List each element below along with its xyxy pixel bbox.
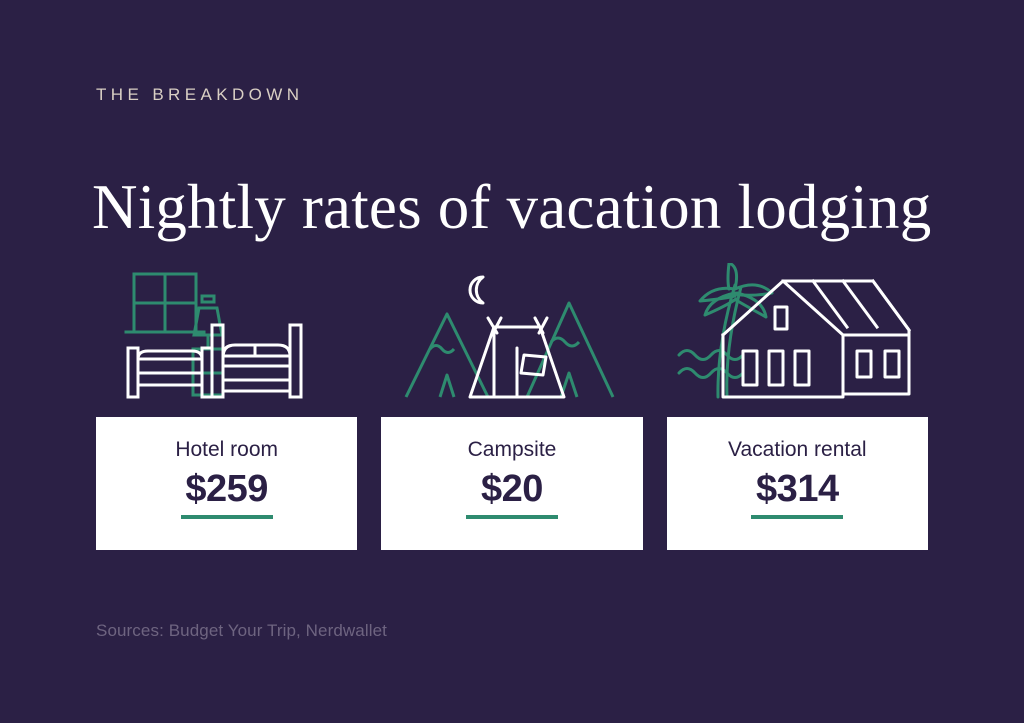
page-title: Nightly rates of vacation lodging: [92, 173, 1024, 241]
value-underline-accent: [466, 515, 558, 519]
infographic-canvas: THE BREAKDOWN Nightly rates of vacation …: [0, 0, 1024, 723]
icon-row: [96, 258, 928, 403]
icon-cell-campsite: [381, 258, 642, 403]
value-underline-accent: [181, 515, 273, 519]
campsite-tent-icon: [404, 263, 619, 403]
rate-card-value: $259: [185, 468, 268, 511]
sources-note: Sources: Budget Your Trip, Nerdwallet: [96, 621, 387, 641]
eyebrow-label: THE BREAKDOWN: [96, 85, 303, 105]
rate-card-hotel-room: Hotel room $259: [96, 417, 357, 550]
rate-card-label: Campsite: [468, 437, 557, 462]
rate-card-row: Hotel room $259 Campsite $20 Vacation re…: [96, 417, 928, 550]
vacation-rental-house-icon: [677, 263, 917, 403]
rate-card-campsite: Campsite $20: [381, 417, 642, 550]
rate-card-label: Vacation rental: [728, 437, 867, 462]
rate-card-value: $20: [481, 468, 543, 511]
icon-cell-vacation-rental: [667, 258, 928, 403]
icon-cell-hotel-room: [96, 258, 357, 403]
rate-card-value: $314: [756, 468, 839, 511]
hotel-bedroom-icon: [114, 263, 339, 403]
value-underline-accent: [751, 515, 843, 519]
rate-card-label: Hotel room: [175, 437, 278, 462]
rate-card-vacation-rental: Vacation rental $314: [667, 417, 928, 550]
content-container: THE BREAKDOWN Nightly rates of vacation …: [96, 0, 928, 723]
